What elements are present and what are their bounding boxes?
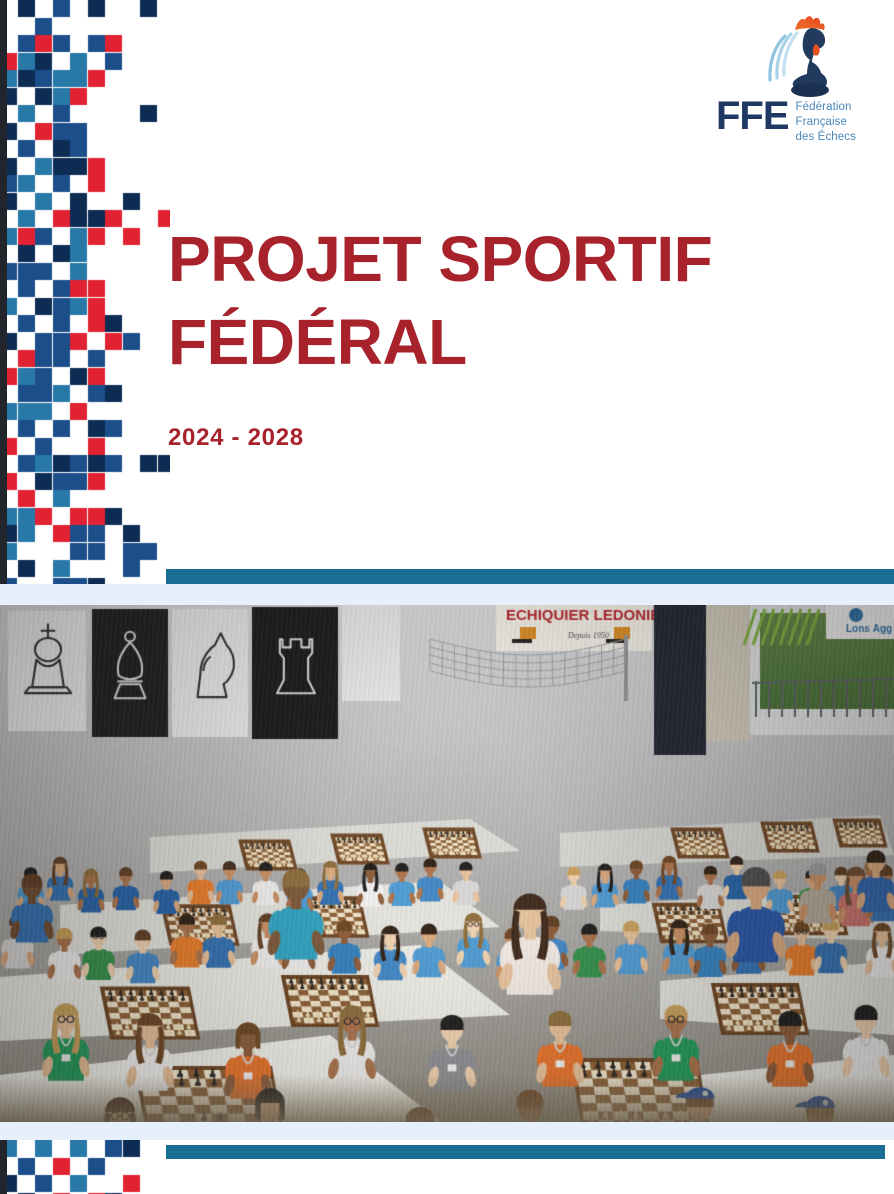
ffe-full-name: Fédération Française des Échecs [796, 100, 856, 145]
page-title: PROJET SPORTIF FÉDÉRAL [168, 218, 868, 384]
decorative-checker-pattern-bottom [0, 1140, 170, 1194]
page-title-line-1: PROJET SPORTIF [168, 218, 868, 301]
rooster-chess-piece-icon [754, 14, 838, 100]
divider-bar-top [166, 569, 894, 584]
ffe-acronym: FFE [716, 98, 789, 135]
page-subtitle-period: 2024 - 2028 [168, 424, 304, 452]
decorative-checker-pattern-top [0, 0, 170, 600]
pale-strip-above-photo [0, 584, 894, 605]
page-left-edge-bottom [0, 1140, 7, 1194]
page-left-edge-top [0, 0, 7, 600]
ffe-logo: FFE Fédération Française des Échecs [710, 14, 880, 144]
ffe-logo-wordmark: FFE Fédération Française des Échecs [716, 98, 856, 145]
page-title-line-2: FÉDÉRAL [168, 301, 868, 384]
pale-strip-below-photo [0, 1122, 894, 1140]
document-page: FFE Fédération Française des Échecs PROJ… [0, 0, 894, 1194]
cover-photo: Children competing at a youth chess tour… [0, 605, 894, 1122]
divider-bar-bottom [166, 1145, 885, 1159]
